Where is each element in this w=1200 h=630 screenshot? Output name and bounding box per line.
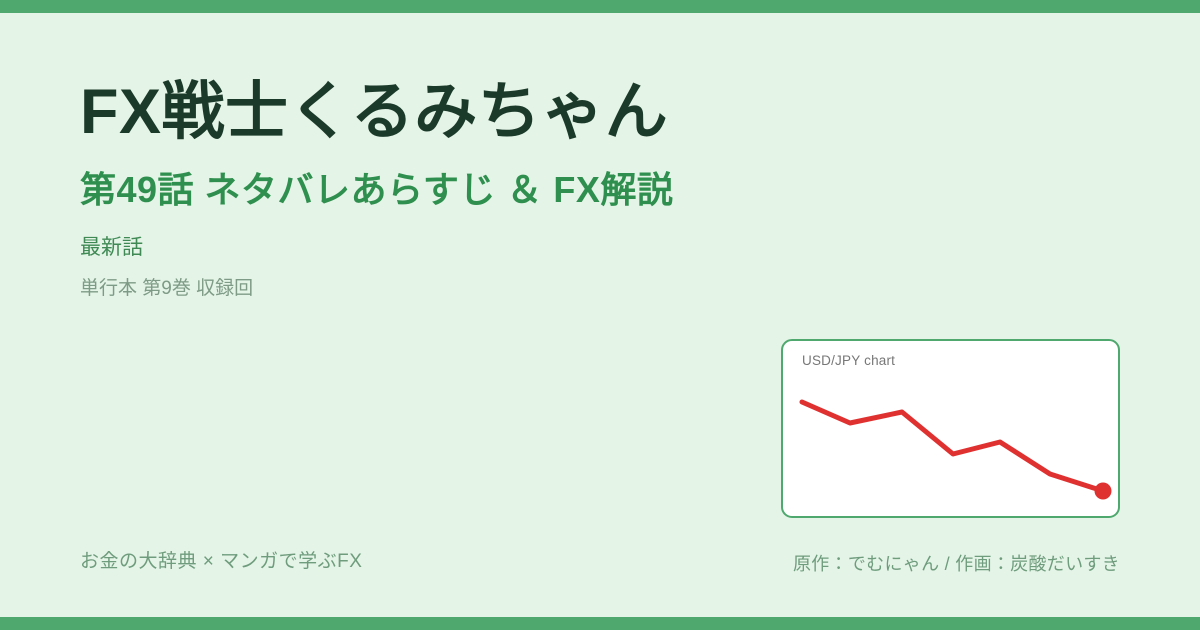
latest-price-marker [1095,483,1112,500]
bottom-accent-bar [0,617,1200,630]
og-card-root: FX戦士くるみちゃん 第49話 ネタバレあらすじ ＆ FX解説 最新話 単行本 … [0,0,1200,630]
page-subtitle: 第49話 ネタバレあらすじ ＆ FX解説 [80,146,780,211]
usd-jpy-chart-card: USD/JPY chart [781,339,1120,518]
footer-credits: 原作：でむにゃん / 作画：炭酸だいすき [793,554,1120,576]
footer-brand: お金の大辞典 × マンガで学ぶFX [80,551,362,574]
price-line [802,402,1103,491]
status-badge: 最新話 [80,211,780,260]
page-title: FX戦士くるみちゃん [80,78,780,146]
volume-note: 単行本 第9巻 収録回 [80,260,780,301]
usd-jpy-line-chart [783,341,1120,518]
hero-text-block: FX戦士くるみちゃん 第49話 ネタバレあらすじ ＆ FX解説 最新話 単行本 … [80,78,780,301]
top-accent-bar [0,0,1200,13]
